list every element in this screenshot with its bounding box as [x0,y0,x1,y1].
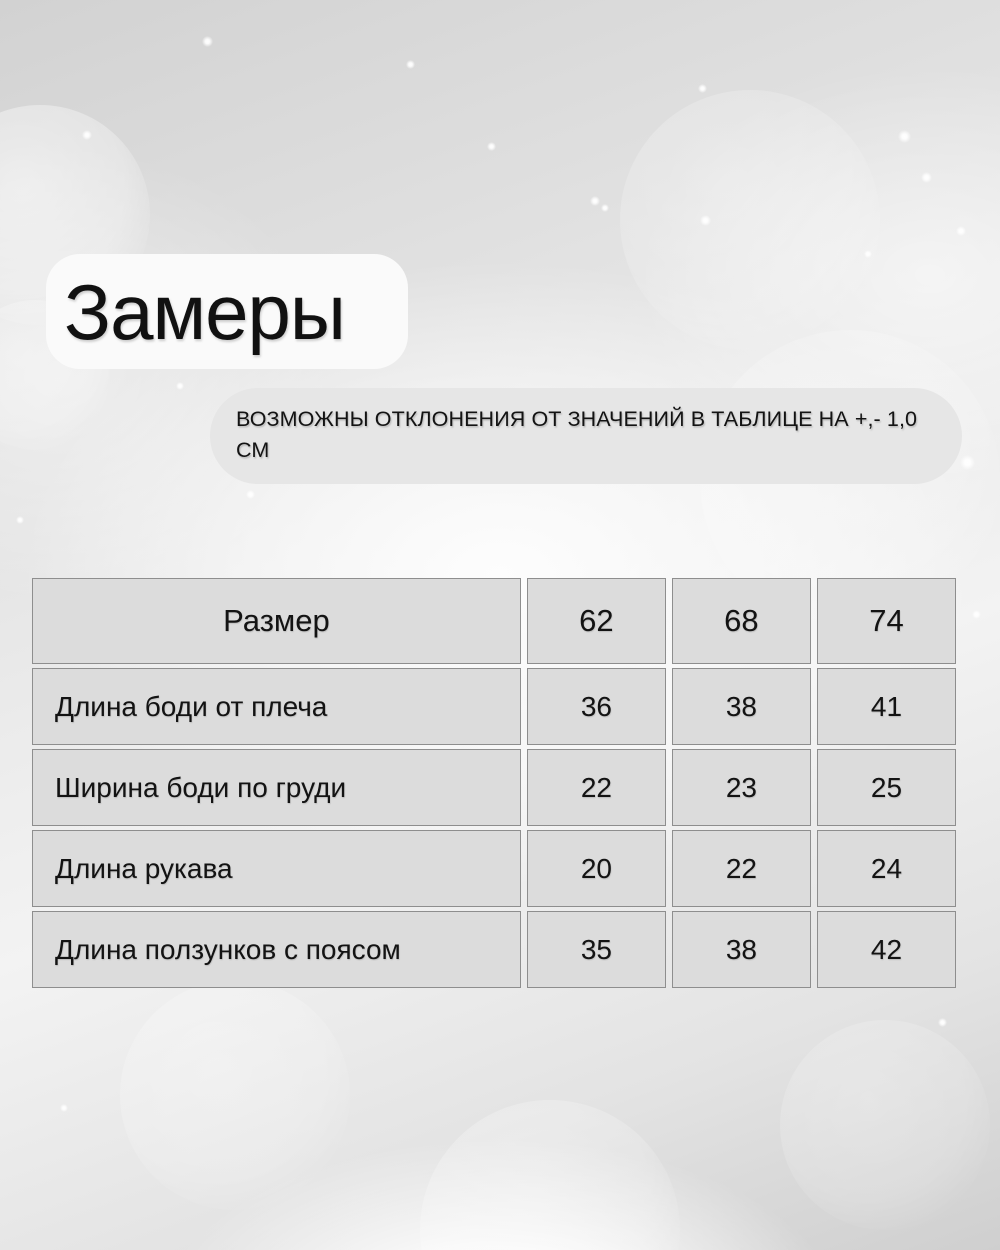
row-label: Длина рукава [32,830,521,907]
row-label: Длина боди от плеча [32,668,521,745]
row-value: 22 [527,749,666,826]
measurements-table: Размер 62 68 74 Длина боди от плеча 36 3… [26,574,962,992]
row-label: Длина ползунков с поясом [32,911,521,988]
table-row: Длина рукава 20 22 24 [32,830,956,907]
table-header-row: Размер 62 68 74 [32,578,956,664]
table-row: Длина ползунков с поясом 35 38 42 [32,911,956,988]
row-value: 20 [527,830,666,907]
row-value: 42 [817,911,956,988]
table-header: Размер 62 68 74 [32,578,956,664]
disclaimer-text: ВОЗМОЖНЫ ОТКЛОНЕНИЯ ОТ ЗНАЧЕНИЙ В ТАБЛИЦ… [236,404,948,466]
row-value: 24 [817,830,956,907]
row-value: 22 [672,830,811,907]
page-title: Замеры [64,258,345,366]
table-row: Ширина боди по груди 22 23 25 [32,749,956,826]
header-cell-size-68: 68 [672,578,811,664]
row-value: 38 [672,911,811,988]
header-cell-size-74: 74 [817,578,956,664]
row-value: 38 [672,668,811,745]
row-label: Ширина боди по груди [32,749,521,826]
row-value: 25 [817,749,956,826]
row-value: 36 [527,668,666,745]
page-content: Замеры ВОЗМОЖНЫ ОТКЛОНЕНИЯ ОТ ЗНАЧЕНИЙ В… [0,0,1000,1250]
row-value: 23 [672,749,811,826]
header-cell-label: Размер [32,578,521,664]
table-row: Длина боди от плеча 36 38 41 [32,668,956,745]
row-value: 41 [817,668,956,745]
header-cell-size-62: 62 [527,578,666,664]
row-value: 35 [527,911,666,988]
table-body: Длина боди от плеча 36 38 41 Ширина боди… [32,668,956,988]
